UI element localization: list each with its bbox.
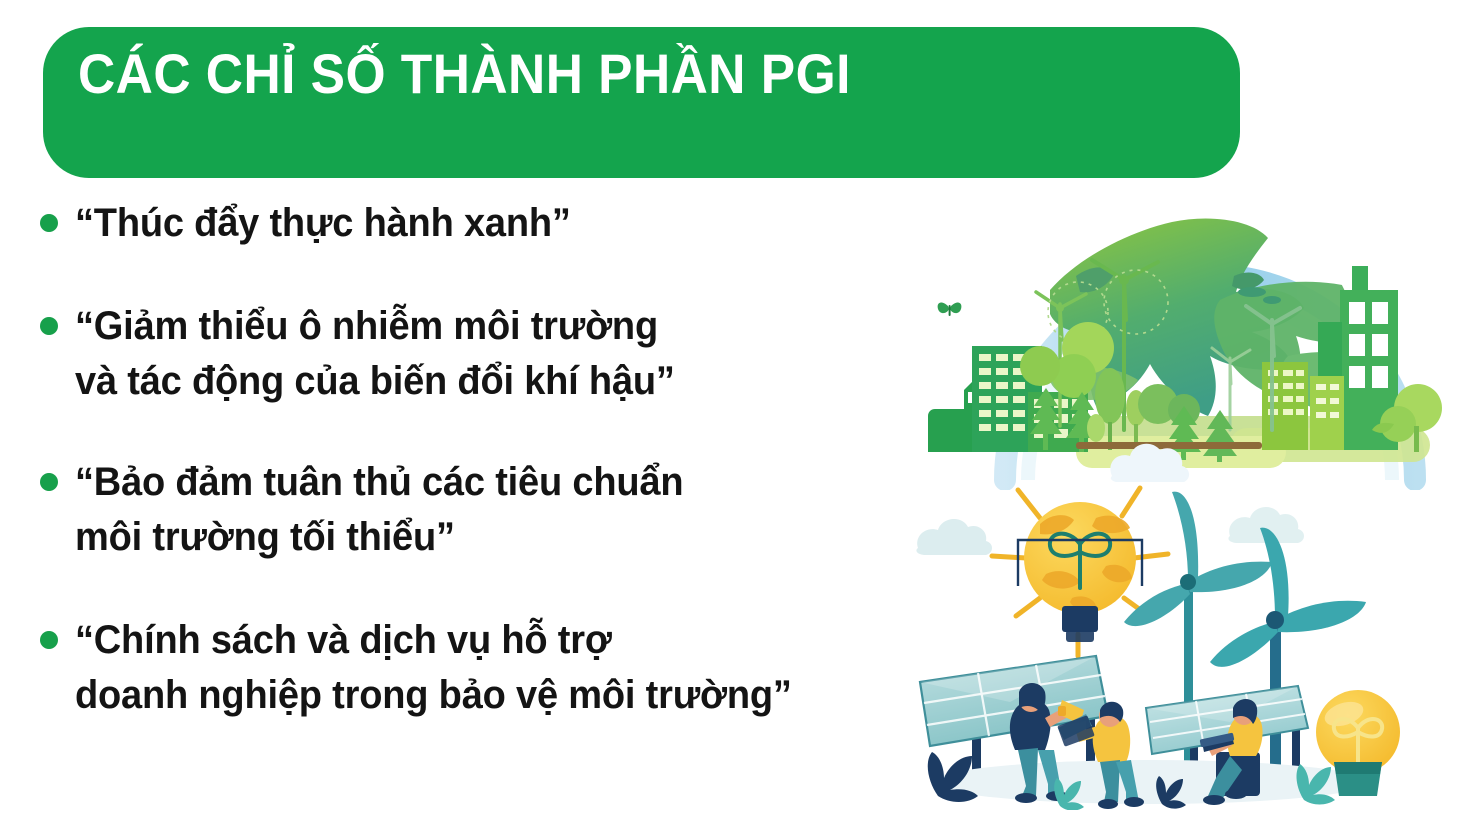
eco-city-globe-illustration xyxy=(900,180,1460,490)
list-item-label: “Thúc đẩy thực hành xanh” xyxy=(75,196,571,251)
list-item: “Giảm thiểu ô nhiễm môi trường và tác độ… xyxy=(40,299,920,409)
bullet-list: “Thúc đẩy thực hành xanh” “Giảm thiểu ô … xyxy=(40,196,920,723)
slide-canvas: CÁC CHỈ SỐ THÀNH PHẦN PGI “Thúc đẩy thực… xyxy=(0,0,1476,835)
list-item: “Chính sách và dịch vụ hỗ trợ doanh nghi… xyxy=(40,613,920,723)
bullet-dot-icon xyxy=(40,317,58,335)
bullet-dot-icon xyxy=(40,214,58,232)
list-item: “Bảo đảm tuân thủ các tiêu chuẩn môi trư… xyxy=(40,455,920,565)
soil-line xyxy=(1076,442,1262,449)
list-item: “Thúc đẩy thực hành xanh” xyxy=(40,196,920,251)
renewable-energy-illustration xyxy=(900,470,1445,810)
butterfly-icon xyxy=(938,302,962,316)
list-item-label: “Chính sách và dịch vụ hỗ trợ doanh nghi… xyxy=(75,613,792,723)
header-banner: CÁC CHỈ SỐ THÀNH PHẦN PGI xyxy=(43,27,1240,178)
list-item-label: “Bảo đảm tuân thủ các tiêu chuẩn môi trư… xyxy=(75,455,683,565)
illustration-column xyxy=(900,180,1460,810)
turbine-hub xyxy=(1056,304,1064,312)
globe-lightbulb-icon xyxy=(1018,502,1142,642)
bullet-dot-icon xyxy=(40,473,58,491)
list-item-label: “Giảm thiểu ô nhiễm môi trường và tác độ… xyxy=(75,299,675,409)
bullet-dot-icon xyxy=(40,631,58,649)
page-title: CÁC CHỈ SỐ THÀNH PHẦN PGI xyxy=(78,45,851,104)
turbine-hub xyxy=(1119,275,1129,285)
